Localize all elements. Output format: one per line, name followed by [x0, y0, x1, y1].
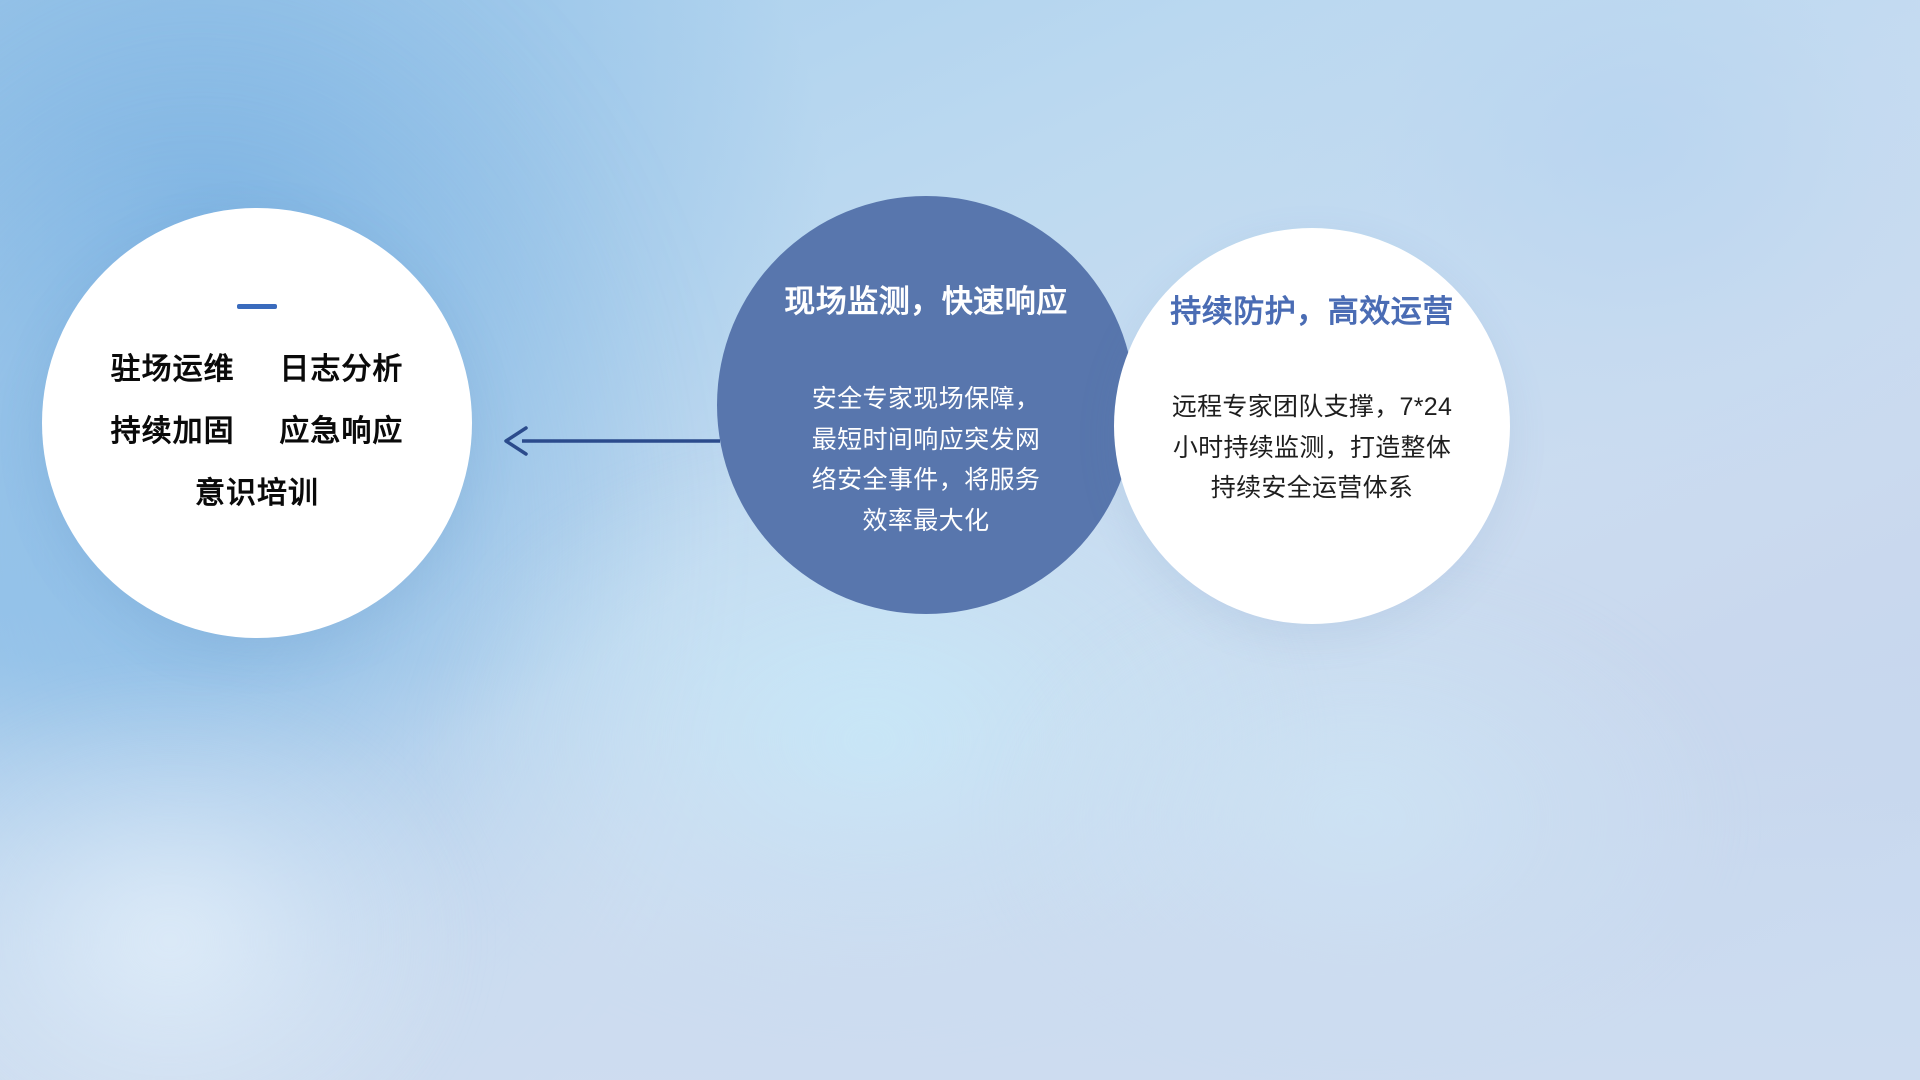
mid-circle-title: 现场监测，快速响应 — [761, 276, 1091, 321]
capability-label-log-analysis: 日志分析 — [279, 353, 403, 386]
right-body-line-3: 持续安全运营体系 — [1132, 468, 1492, 509]
continuous-protection-circle[interactable]: 持续防护，高效运营 远程专家团队支撑，7*24 小时持续监测，打造整体 持续安全… — [1114, 228, 1510, 624]
mid-body-line-2: 最短时间响应突发网 — [761, 420, 1091, 461]
capability-label-continuous-hardening: 持续加固 — [111, 415, 235, 448]
onsite-monitoring-circle[interactable]: 现场监测，快速响应 安全专家现场保障， 最短时间响应突发网 络安全事件，将服务 … — [717, 196, 1135, 614]
capability-label-emergency-response: 应急响应 — [279, 415, 403, 448]
horizontal-dash-icon — [237, 304, 277, 309]
right-body-line-2: 小时持续监测，打造整体 — [1132, 428, 1492, 469]
capability-row-3: 意识培训 — [72, 479, 442, 509]
slide-canvas: 驻场运维 日志分析 持续加固 应急响应 意识培训 现场监测，快速响应 安全专家现 — [0, 0, 1920, 1080]
mid-body-line-3: 络安全事件，将服务 — [761, 460, 1091, 501]
arrow-left-icon — [492, 418, 722, 464]
right-circle-title: 持续防护，高效运营 — [1132, 286, 1492, 331]
left-circle-content: 驻场运维 日志分析 持续加固 应急响应 意识培训 — [42, 304, 472, 509]
right-circle-content: 持续防护，高效运营 远程专家团队支撑，7*24 小时持续监测，打造整体 持续安全… — [1114, 286, 1510, 509]
right-circle-body: 远程专家团队支撑，7*24 小时持续监测，打造整体 持续安全运营体系 — [1132, 387, 1492, 509]
mid-circle-body: 安全专家现场保障， 最短时间响应突发网 络安全事件，将服务 效率最大化 — [761, 379, 1091, 541]
mid-body-line-1: 安全专家现场保障， — [761, 379, 1091, 420]
mid-body-line-4: 效率最大化 — [761, 501, 1091, 542]
mid-circle-content: 现场监测，快速响应 安全专家现场保障， 最短时间响应突发网 络安全事件，将服务 … — [717, 276, 1135, 541]
capability-label-awareness-training: 意识培训 — [195, 477, 319, 510]
capability-row-1: 驻场运维 日志分析 — [72, 355, 442, 385]
capability-label-onsite-ops: 驻场运维 — [111, 353, 235, 386]
capability-row-2: 持续加固 应急响应 — [72, 417, 442, 447]
right-body-line-1: 远程专家团队支撑，7*24 — [1132, 387, 1492, 428]
left-capability-circle[interactable]: 驻场运维 日志分析 持续加固 应急响应 意识培训 — [42, 208, 472, 638]
